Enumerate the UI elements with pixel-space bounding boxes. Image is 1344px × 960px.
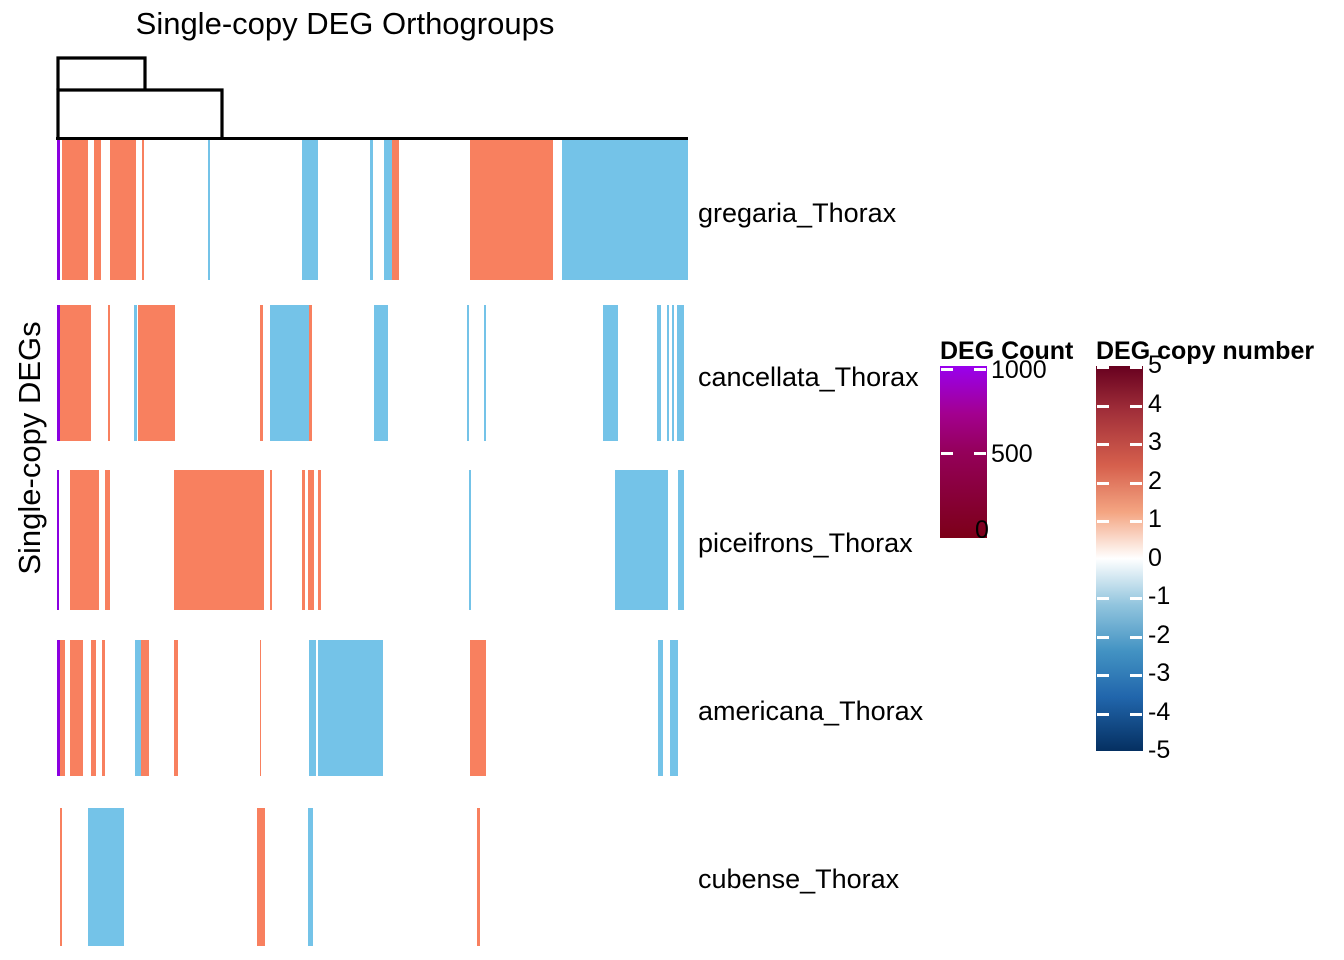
- heatmap-cell: [60, 808, 63, 946]
- heatmap: [56, 140, 688, 946]
- heatmap-cell: [470, 640, 486, 776]
- heatmap-cell: [562, 140, 565, 280]
- legend-copy-number-tick: [1097, 443, 1109, 446]
- legend-copy-number-label: 4: [1148, 392, 1162, 417]
- heatmap-cell: [94, 140, 102, 280]
- legend-count-label-0: 0: [975, 518, 989, 543]
- heatmap-cell: [677, 305, 684, 441]
- heatmap-cell: [70, 640, 83, 776]
- heatmap-cell: [672, 305, 675, 441]
- legend-copy-number-tick: [1097, 482, 1109, 485]
- legend-count-label-1000: 1000: [991, 358, 1047, 383]
- heatmap-cell: [318, 640, 383, 776]
- heatmap-cell: [57, 470, 60, 610]
- legend-copy-number-tick: [1130, 405, 1142, 408]
- heatmap-cell: [260, 640, 262, 776]
- heatmap-cell: [257, 808, 265, 946]
- heatmap-cell: [308, 808, 313, 946]
- dendrogram-svg: [0, 50, 700, 140]
- legend-count-tick-1000-right: [974, 368, 986, 371]
- column-dendrogram: [0, 50, 700, 140]
- legend-copy-number-tick: [1130, 636, 1142, 639]
- heatmap-cell: [658, 640, 664, 776]
- legend-copy-number-tick: [1130, 482, 1142, 485]
- legend-count-label-500: 500: [991, 442, 1033, 467]
- heatmap-cell: [174, 470, 264, 610]
- heatmap-cell: [657, 305, 661, 441]
- legend-copy-number-label: 3: [1148, 430, 1162, 455]
- heatmap-cell: [270, 470, 273, 610]
- heatmap-cell: [470, 140, 553, 280]
- heatmap-cell: [469, 470, 471, 610]
- heatmap-cell: [270, 305, 309, 441]
- legend-copy-number-label: 2: [1148, 469, 1162, 494]
- heatmap-cell: [105, 470, 110, 610]
- legend-copy-number-tick: [1130, 597, 1142, 600]
- legend-copy-number-tick: [1130, 751, 1142, 754]
- row-label-americana: americana_Thorax: [698, 696, 923, 727]
- y-axis-label: Single-copy DEGs: [12, 283, 48, 613]
- heatmap-cell: [102, 640, 106, 776]
- legend-count-tick-500-right: [974, 452, 986, 455]
- heatmap-cell: [484, 305, 486, 441]
- heatmap-cell: [60, 640, 65, 776]
- legend-copy-number-tick: [1097, 520, 1109, 523]
- dendrogram-branch-outer: [58, 90, 222, 139]
- heatmap-cell: [603, 305, 618, 441]
- heatmap-cell: [134, 305, 137, 441]
- legend-copy-number-tick: [1097, 636, 1109, 639]
- legend-copy-number-tick: [1097, 674, 1109, 677]
- heatmap-cell: [110, 140, 135, 280]
- legend-copy-number-label: -2: [1148, 623, 1170, 648]
- legend-copy-number-label: 1: [1148, 507, 1162, 532]
- heatmap-cell: [260, 305, 264, 441]
- heatmap-cell: [308, 470, 314, 610]
- legend-copy-number-gradient: [1096, 366, 1143, 751]
- heatmap-row-americana[interactable]: [56, 640, 688, 776]
- heatmap-cell: [141, 640, 149, 776]
- heatmap-cell: [309, 640, 316, 776]
- legend-copy-number-tick: [1097, 751, 1109, 754]
- heatmap-cell: [318, 470, 321, 610]
- heatmap-cell: [108, 305, 111, 441]
- legend-copy-number-tick: [1130, 366, 1142, 369]
- legend-count-tick-1000-left: [941, 368, 953, 371]
- heatmap-cell: [477, 808, 480, 946]
- legend-title-copy-number: DEG copy number: [1096, 337, 1314, 366]
- legend-copy-number-tick: [1130, 713, 1142, 716]
- legend-copy-number-tick: [1130, 674, 1142, 677]
- legend-copy-number-tick: [1097, 366, 1109, 369]
- heatmap-cell: [70, 470, 99, 610]
- heatmap-row-gregaria[interactable]: [56, 140, 688, 280]
- row-label-piceifrons: piceifrons_Thorax: [698, 528, 913, 559]
- heatmap-cell: [174, 640, 178, 776]
- heatmap-cell: [309, 305, 312, 441]
- heatmap-cell: [667, 305, 670, 441]
- heatmap-cell: [57, 140, 61, 280]
- row-label-cancellata: cancellata_Thorax: [698, 362, 919, 393]
- heatmap-cell: [678, 470, 684, 610]
- chart-title: Single-copy DEG Orthogroups: [0, 6, 690, 42]
- legend-copy-number-tick: [1097, 597, 1109, 600]
- heatmap-cell: [664, 140, 675, 280]
- heatmap-cell: [615, 470, 669, 610]
- heatmap-cell: [62, 140, 87, 280]
- heatmap-row-cubense[interactable]: [56, 808, 688, 946]
- legend-copy-number-tick: [1130, 443, 1142, 446]
- legend-copy-number-label: -4: [1148, 700, 1170, 725]
- heatmap-cell: [60, 305, 92, 441]
- legend-copy-number-label: 0: [1148, 546, 1162, 571]
- heatmap-cell: [670, 640, 678, 776]
- heatmap-cell: [467, 305, 470, 441]
- heatmap-cell: [384, 140, 392, 280]
- row-label-gregaria: gregaria_Thorax: [698, 198, 896, 229]
- legend-copy-number-label: -5: [1148, 738, 1170, 763]
- heatmap-cell: [88, 808, 125, 946]
- row-label-cubense: cubense_Thorax: [698, 864, 899, 895]
- heatmap-row-cancellata[interactable]: [56, 305, 688, 441]
- legend-copy-number-tick: [1097, 405, 1109, 408]
- heatmap-cell: [392, 140, 398, 280]
- heatmap-cell: [138, 305, 175, 441]
- legend-copy-number-label: -1: [1148, 584, 1170, 609]
- heatmap-cell: [302, 470, 305, 610]
- legend-count-tick-500-left: [941, 452, 953, 455]
- legend-copy-number-label: 5: [1148, 353, 1162, 378]
- heatmap-cell: [302, 140, 317, 280]
- heatmap-row-piceifrons[interactable]: [56, 470, 688, 610]
- heatmap-cell: [374, 305, 388, 441]
- legend-copy-number-tick: [1097, 713, 1109, 716]
- heatmap-cell: [91, 640, 95, 776]
- heatmap-cell: [370, 140, 373, 280]
- heatmap-cell: [142, 140, 145, 280]
- legend-copy-number-label: -3: [1148, 661, 1170, 686]
- dendrogram-branch-inner: [58, 58, 145, 90]
- legend-copy-number-tick: [1130, 520, 1142, 523]
- heatmap-cell: [208, 140, 210, 280]
